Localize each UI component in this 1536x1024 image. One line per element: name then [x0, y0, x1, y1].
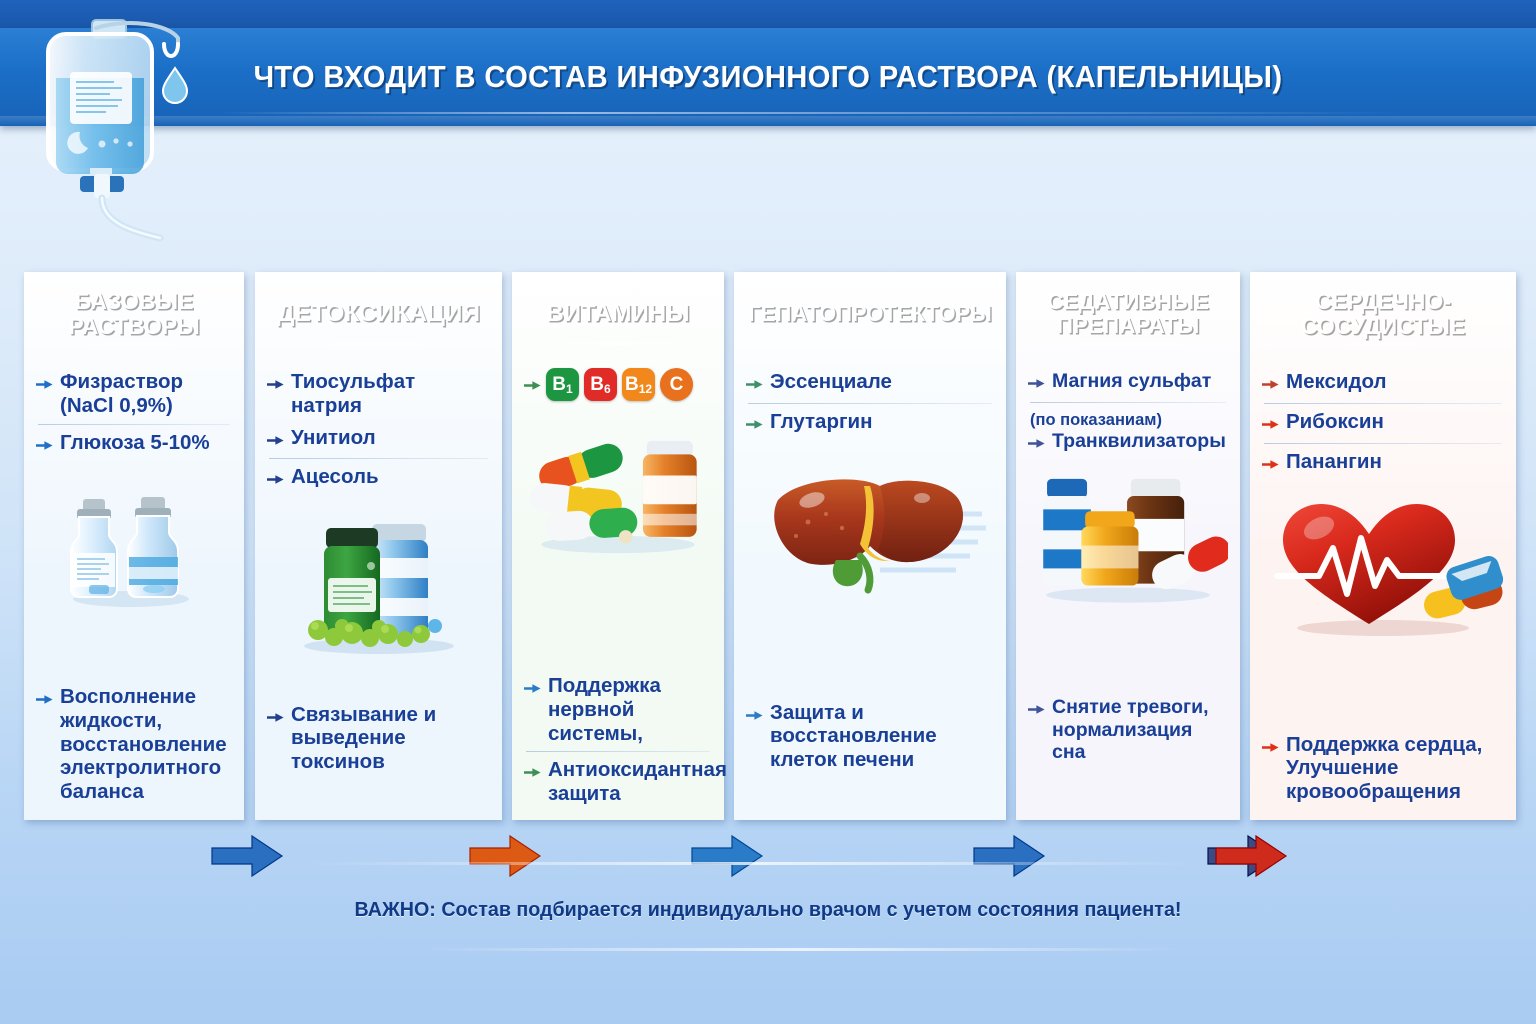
outcome-row: Восполнение жидкости, восстановление эле… — [36, 681, 232, 808]
list-item-label: Эссенциале — [770, 370, 994, 394]
card-body-sedatives: Магния сульфат (по показаниам) Транквили… — [1016, 356, 1240, 820]
card-title-line1: ГЕПАТОПРОТЕКТОРЫ — [748, 302, 991, 326]
card-body-detox: Тиосульфат натрия Унитиол Ацесоль — [255, 356, 502, 820]
vitamin-badge-b12: B12 — [622, 368, 655, 401]
arrow-bullet-icon — [1028, 433, 1045, 456]
card-body-base-solutions: Физраствор (NaCl 0,9%) Глюкоза 5-10% — [24, 356, 244, 820]
arrow-bullet-icon — [524, 761, 541, 785]
card-title-line2: РАСТВОРЫ — [68, 314, 199, 339]
list-item-label: Магния сульфат — [1052, 370, 1228, 393]
illustration-green-and-blue-bottles — [267, 496, 490, 656]
card-body-vitamins: B1 B6 B12 C — [512, 356, 724, 820]
illustration-liver — [746, 441, 994, 606]
card-body-hepatoprotectors: Эссенциале Глутаргин — [734, 356, 1006, 820]
card-header-base-solutions: БАЗОВЫЕ РАСТВОРЫ — [24, 272, 244, 356]
columns-container: БАЗОВЫЕ РАСТВОРЫ Физраствор (NaCl 0,9%) … — [24, 272, 1516, 820]
arrow-bullet-icon — [1028, 699, 1045, 722]
list-item: Магния сульфат — [1028, 366, 1228, 400]
flow-arrow-6 — [1214, 832, 1288, 880]
flow-arrow-4 — [972, 832, 1046, 880]
outcome-text: Антиоксидантная защита — [548, 758, 727, 806]
card-body-cardiovascular: Мексидол Рибоксин Панангин — [1250, 356, 1516, 820]
list-item: Транквилизаторы — [1028, 430, 1228, 460]
arrow-bullet-icon — [746, 704, 763, 728]
list-item: Унитиол — [267, 422, 490, 457]
arrow-bullet-icon — [267, 429, 284, 453]
bg-streak — [300, 862, 1200, 865]
list-item: Мексидол — [1262, 366, 1504, 401]
category-card-cardiovascular[interactable]: СЕРДЕЧНО- СОСУДИСТЫЕ Мексидол Рибоксин — [1250, 272, 1516, 820]
divider — [1030, 402, 1226, 403]
outcomes-vitamins: Поддержка нервной системы, Антиоксидантн… — [524, 670, 712, 810]
header-highlight — [542, 342, 695, 345]
card-title-line1: СЕДАТИВНЫЕ — [1047, 290, 1209, 314]
outcome-sedatives: Снятие тревоги, нормализация сна — [1028, 692, 1228, 768]
item-sub: (NaCl 0,9%) — [60, 394, 173, 417]
category-card-hepatoprotectors[interactable]: ГЕПАТОПРОТЕКТОРЫ Эссенциале Глутаргин — [734, 272, 1006, 820]
flow-arrow-2 — [468, 832, 542, 880]
list-item: Глутаргин — [746, 406, 994, 441]
header-highlight — [290, 342, 468, 345]
vitamin-badge-row: B1 B6 B12 C — [524, 366, 712, 401]
illustration-two-glass-vials — [36, 461, 232, 611]
list-item-label: Унитиол — [291, 426, 490, 450]
illustration-capsules-and-pill-bottle — [524, 401, 712, 561]
footer-note: ВАЖНО: Состав подбирается индивидуально … — [31, 884, 1506, 936]
arrow-bullet-icon — [36, 688, 53, 712]
outcome-text: Связывание и выведение токсинов — [291, 703, 490, 774]
item-name: Физраствор — [60, 370, 183, 393]
outcome-text: Защита и восстановление клеток печени — [770, 701, 994, 772]
arrow-bullet-icon — [1262, 373, 1279, 397]
iv-drip-icon — [18, 8, 228, 258]
card-header-cardiovascular: СЕРДЕЧНО- СОСУДИСТЫЕ — [1250, 272, 1516, 356]
arrow-bullet-icon — [524, 374, 541, 398]
list-item-label: Ацесоль — [291, 465, 490, 489]
badge-sub: 6 — [604, 382, 611, 396]
list-item: Эссенциале — [746, 366, 994, 401]
card-title-line1: СЕРДЕЧНО- — [1301, 289, 1465, 314]
card-header-sedatives: СЕДАТИВНЫЕ ПРЕПАРАТЫ — [1016, 272, 1240, 356]
arrow-bullet-icon — [746, 373, 763, 397]
list-item-label: Физраствор (NaCl 0,9%) — [60, 370, 232, 418]
badge-letter: C — [670, 374, 684, 396]
category-card-base-solutions[interactable]: БАЗОВЫЕ РАСТВОРЫ Физраствор (NaCl 0,9%) … — [24, 272, 244, 820]
category-card-detox[interactable]: ДЕТОКСИКАЦИЯ Тиосульфат натрия Унитиол А… — [255, 272, 502, 820]
list-item-label: Мексидол — [1286, 370, 1504, 394]
card-header-hepatoprotectors: ГЕПАТОПРОТЕКТОРЫ — [734, 272, 1006, 356]
outcome-text: Снятие тревоги, нормализация сна — [1052, 696, 1228, 764]
arrow-bullet-icon — [524, 677, 541, 701]
badge-letter: B — [590, 374, 604, 396]
arrow-bullet-icon — [1262, 413, 1279, 437]
outcome-row: Снятие тревоги, нормализация сна — [1028, 692, 1228, 768]
arrow-bullet-icon — [1262, 736, 1279, 760]
list-item: Рибоксин — [1262, 406, 1504, 441]
divider — [38, 424, 230, 425]
outcome-row: Поддержка сердца, Улучшение кровообращен… — [1262, 729, 1504, 808]
badge-sub: 12 — [639, 382, 652, 396]
header-highlight — [55, 342, 213, 345]
list-item-label: Тиосульфат натрия — [291, 370, 490, 418]
divider — [1264, 443, 1502, 444]
list-item-label: Рибоксин — [1286, 410, 1504, 434]
outcome-text: Восполнение жидкости, восстановление эле… — [60, 685, 232, 804]
category-card-vitamins[interactable]: ВИТАМИНЫ B1 B6 B12 C — [512, 272, 724, 820]
illustration-heart-with-ecg-and-pills — [1262, 480, 1504, 640]
outcome-text: Поддержка нервной системы, — [548, 674, 712, 745]
outcome-row: Поддержка нервной системы, — [524, 670, 712, 749]
list-item-label: Панангин — [1286, 450, 1504, 474]
list-item: Физраствор (NaCl 0,9%) — [36, 366, 232, 422]
card-title-line2: СОСУДИСТЫЕ — [1301, 314, 1465, 339]
title-underline — [220, 112, 1400, 114]
arrow-bullet-icon — [36, 434, 53, 458]
badge-sub: 1 — [566, 382, 573, 396]
vitamin-badge-b6: B6 — [584, 368, 617, 401]
list-item: Тиосульфат натрия — [267, 366, 490, 422]
outcome-base-solutions: Восполнение жидкости, восстановление эле… — [36, 681, 232, 808]
outcome-hepatoprotectors: Защита и восстановление клеток печени — [746, 697, 994, 776]
illustration-pill-bottles-and-capsule — [1028, 459, 1228, 609]
category-card-sedatives[interactable]: СЕДАТИВНЫЕ ПРЕПАРАТЫ Магния сульфат (по … — [1016, 272, 1240, 820]
header-highlight — [1047, 342, 1208, 345]
header-highlight — [772, 342, 968, 345]
arrow-bullet-icon — [267, 468, 284, 492]
list-item-label: Глутаргин — [770, 410, 994, 434]
arrow-bullet-icon — [267, 373, 284, 397]
card-title-line1: ДЕТОКСИКАЦИЯ — [277, 301, 480, 327]
card-title-line2: ПРЕПАРАТЫ — [1047, 314, 1209, 338]
divider — [269, 458, 488, 459]
badge-letter: B — [552, 374, 566, 396]
outcome-row: Защита и восстановление клеток печени — [746, 697, 994, 776]
arrow-bullet-icon — [36, 373, 53, 397]
divider — [1264, 403, 1502, 404]
card-header-vitamins: ВИТАМИНЫ — [512, 272, 724, 356]
arrow-bullet-icon — [267, 706, 284, 730]
divider — [748, 403, 992, 404]
outcome-row: Антиоксидантная защита — [524, 754, 712, 810]
outcome-cardiovascular: Поддержка сердца, Улучшение кровообращен… — [1262, 729, 1504, 808]
list-item: Панангин — [1262, 446, 1504, 481]
card-title-line1: ВИТАМИНЫ — [546, 301, 689, 327]
outcome-text: Поддержка сердца, Улучшение кровообращен… — [1286, 733, 1504, 804]
vitamin-badge-c: C — [660, 368, 693, 401]
flow-arrow-3 — [690, 832, 764, 880]
list-item: Ацесоль — [267, 461, 490, 496]
badge-letter: B — [625, 374, 639, 396]
list-item-label: Транквилизаторы — [1052, 430, 1228, 453]
list-item-label: Глюкоза 5-10% — [60, 431, 232, 455]
vitamin-badge-b1: B1 — [546, 368, 579, 401]
outcome-row: Связывание и выведение токсинов — [267, 699, 490, 778]
card-header-detox: ДЕТОКСИКАЦИЯ — [255, 272, 502, 356]
infographic-root: ЧТО ВХОДИТ В СОСТАВ ИНФУЗИОННОГО РАСТВОР… — [0, 0, 1536, 1024]
bg-streak — [420, 948, 1180, 951]
arrow-bullet-icon — [1028, 373, 1045, 396]
outcome-detox: Связывание и выведение токсинов — [267, 699, 490, 778]
divider — [526, 751, 710, 752]
flow-arrow-1 — [210, 832, 284, 880]
card-title-line1: БАЗОВЫЕ — [68, 289, 199, 314]
header-highlight — [1287, 342, 1479, 345]
arrow-bullet-icon — [1262, 453, 1279, 477]
indication-note: (по показаниам) — [1028, 405, 1228, 430]
list-item: Глюкоза 5-10% — [36, 427, 232, 462]
top-band — [0, 0, 1536, 28]
arrow-bullet-icon — [746, 413, 763, 437]
